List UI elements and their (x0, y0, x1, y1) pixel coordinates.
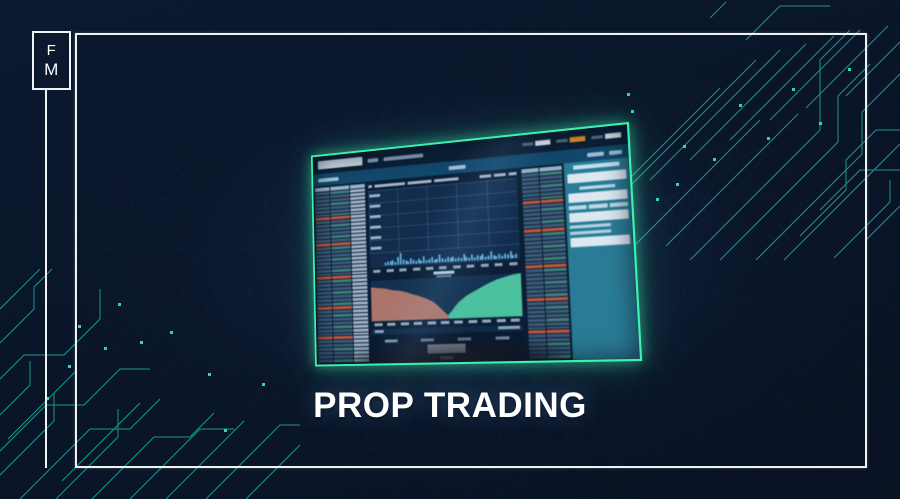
circuit-nodes (623, 68, 851, 208)
volume-bar (512, 255, 514, 259)
fm-logo-letter-m: M (44, 61, 59, 78)
order-entry-panel[interactable] (564, 157, 640, 360)
order-entry-submit[interactable] (570, 234, 630, 247)
terminal-search-input[interactable] (318, 157, 363, 170)
terminal-ticker-3 (591, 132, 621, 140)
orderbook-row (318, 329, 333, 332)
terminal-ticker-2 (556, 136, 585, 144)
orderbook-row (528, 322, 545, 326)
fm-logo: F M (32, 31, 71, 90)
orderbook-row (318, 356, 333, 359)
orderbook-row (334, 359, 353, 362)
volume-bar (498, 253, 500, 259)
orderbook-row (353, 328, 368, 331)
candlestick-chart (368, 178, 519, 254)
terminal-menu-item-2[interactable] (383, 153, 423, 161)
orderbook-row (318, 333, 333, 336)
orderbook-left[interactable] (313, 182, 370, 365)
volume-bar (496, 256, 498, 260)
orderbook-row (318, 344, 333, 347)
volume-bar (501, 256, 503, 259)
hand-shadow (357, 333, 562, 367)
terminal-menu-item-1[interactable] (368, 157, 379, 162)
order-entry-note-1 (570, 223, 611, 229)
order-entry-field-3[interactable] (569, 209, 629, 223)
terminal-ticker-1 (522, 139, 550, 147)
volume-bar (471, 255, 473, 261)
candlestick-series (383, 180, 518, 251)
orderbook-row (318, 352, 333, 355)
orderbook-row (334, 344, 353, 347)
orderbook-row (333, 336, 352, 339)
orderbook-row (318, 325, 333, 328)
orderbook-row (318, 360, 333, 363)
volume-bar (515, 253, 517, 258)
orderbook-row (334, 352, 353, 355)
orderbook-row (318, 348, 333, 351)
orderbook-row (334, 348, 353, 351)
trading-terminal-image-wrap (296, 138, 632, 363)
area-chart-svg (371, 273, 523, 321)
fm-logo-letter-f: F (47, 43, 57, 58)
order-entry-heading (573, 161, 620, 169)
volume-bar (482, 254, 484, 261)
order-entry-field-2[interactable] (568, 189, 628, 203)
chart-y-axis (369, 190, 383, 254)
banner-root: F M (0, 0, 900, 499)
volume-bar (474, 258, 476, 261)
order-entry-label-1 (579, 184, 615, 190)
orderbook-row (527, 310, 544, 314)
orderbook-row (547, 326, 570, 330)
orderbook-row (334, 340, 353, 343)
orderbook-row (353, 320, 368, 323)
orderbook-row (546, 322, 569, 326)
orderbook-row (353, 324, 368, 327)
orderbook-row (334, 355, 353, 358)
orderbook-row (318, 337, 333, 340)
orderbook-row (353, 332, 368, 335)
area-series-negative (371, 284, 449, 322)
area-series-positive (447, 273, 522, 319)
order-entry-field-1[interactable] (567, 169, 626, 183)
orderbook-row (318, 341, 333, 344)
orderbook-row (318, 322, 333, 325)
page-title: PROP TRADING (0, 386, 900, 426)
order-entry-note-2 (570, 229, 611, 235)
volume-bar (509, 251, 511, 259)
area-chart (371, 273, 523, 321)
orderbook-row (528, 326, 545, 330)
orderbook-row (528, 318, 545, 322)
orderbook-row (528, 314, 545, 318)
orderbook-row (527, 306, 544, 310)
trading-terminal-screen (311, 122, 642, 367)
